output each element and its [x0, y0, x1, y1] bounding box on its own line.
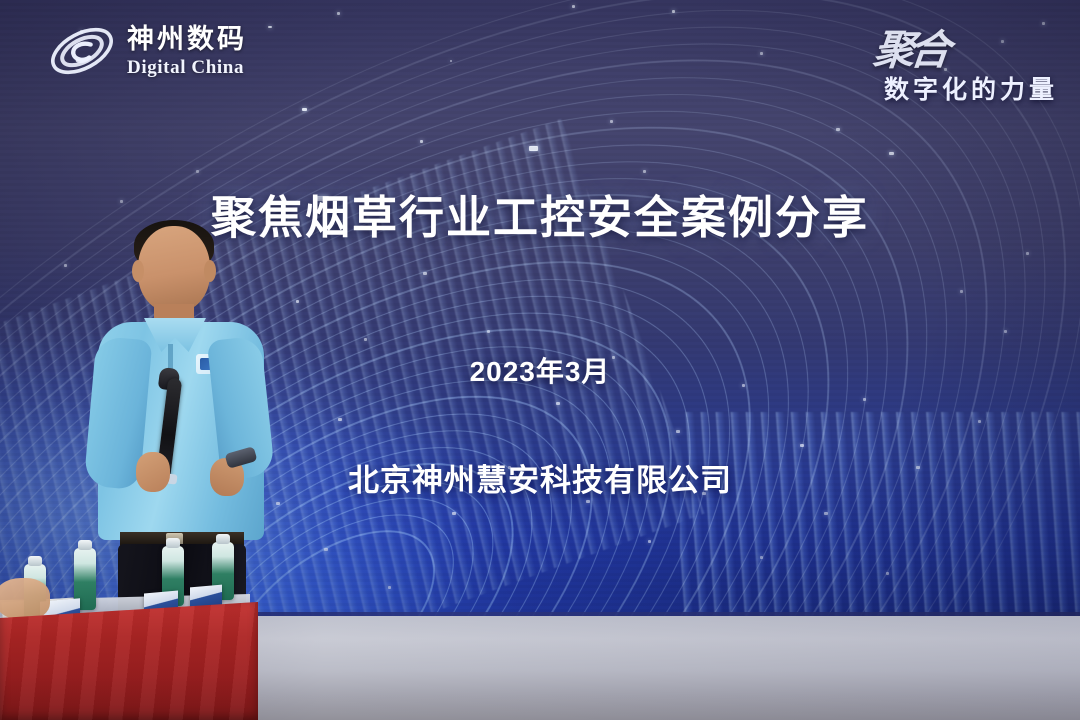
digital-china-swirl-icon — [46, 20, 118, 82]
audience-hand — [0, 578, 50, 620]
presenter-ear-left — [132, 260, 144, 282]
front-row-table — [0, 585, 258, 720]
presenter-ear-right — [204, 260, 216, 282]
brand-logo-block: 神州数码 Digital China — [46, 20, 247, 82]
slogan-calligraphy: 聚合 — [871, 16, 949, 76]
presenter-hand-left — [136, 452, 170, 492]
brand-name-cn: 神州数码 — [127, 26, 247, 53]
presenter-head — [138, 226, 210, 312]
screenshot-root: 神州数码 Digital China 聚合 数字化的力量 聚焦烟草行业工控安全案… — [0, 0, 1080, 720]
red-tablecloth — [0, 602, 258, 720]
brand-name-en: Digital China — [127, 58, 247, 77]
event-slogan-block: 聚合 数字化的力量 — [874, 16, 1058, 106]
